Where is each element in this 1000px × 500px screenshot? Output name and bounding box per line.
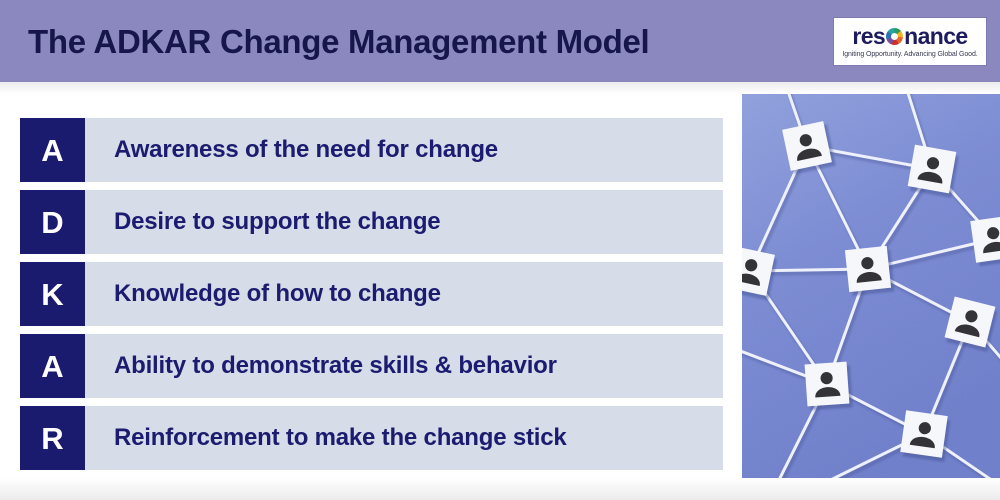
network-graphic (742, 94, 1000, 480)
list-item-label: Ability to demonstrate skills & behavior (85, 334, 723, 398)
header-underline-strip (0, 82, 1000, 94)
list-item-label: Desire to support the change (85, 190, 723, 254)
list-item[interactable]: R Reinforcement to make the change stick (20, 406, 723, 470)
network-of-people-photo (742, 94, 1000, 480)
list-item-label: Reinforcement to make the change stick (85, 406, 723, 470)
letter-badge: D (20, 190, 85, 254)
letter-badge: K (20, 262, 85, 326)
person-node-icon (805, 361, 853, 410)
logo-tagline: Igniting Opportunity. Advancing Global G… (842, 51, 977, 58)
logo-word-part1: res (852, 25, 885, 48)
infographic-page: The ADKAR Change Management Model res na… (0, 0, 1000, 500)
list-item[interactable]: A Ability to demonstrate skills & behavi… (20, 334, 723, 398)
letter-badge: R (20, 406, 85, 470)
letter-badge: A (20, 118, 85, 182)
letter-badge: A (20, 334, 85, 398)
list-item[interactable]: A Awareness of the need for change (20, 118, 723, 182)
page-title: The ADKAR Change Management Model (28, 25, 834, 58)
logo-wordmark: res nance (852, 25, 967, 48)
logo-word-part2: nance (904, 25, 967, 48)
person-node-icon (845, 246, 895, 296)
person-node-icon (900, 410, 951, 462)
resonance-logo[interactable]: res nance Igniting Opportunity. Advancin… (834, 18, 986, 65)
list-item[interactable]: K Knowledge of how to change (20, 262, 723, 326)
multicolor-ring-icon (886, 28, 903, 45)
list-item-label: Knowledge of how to change (85, 262, 723, 326)
adkar-list: A Awareness of the need for change D Des… (20, 118, 723, 470)
header-band: The ADKAR Change Management Model res na… (0, 0, 1000, 82)
person-node-icon (907, 145, 959, 198)
footer-strip (0, 478, 1000, 500)
list-item-label: Awareness of the need for change (85, 118, 723, 182)
person-node-icon (782, 120, 836, 174)
list-item[interactable]: D Desire to support the change (20, 190, 723, 254)
